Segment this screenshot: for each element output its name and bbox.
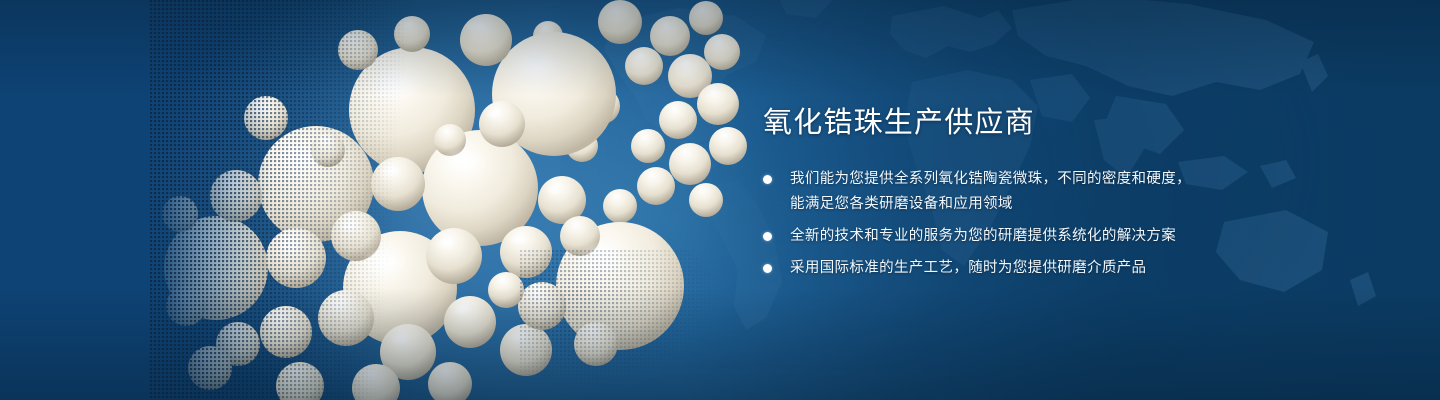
banner-copy: 氧化锆珠生产供应商 我们能为您提供全系列氧化锆陶瓷微珠，不同的密度和硬度， 能满… — [763, 104, 1383, 280]
bullet-dot-icon — [763, 264, 772, 273]
bullet-dot-icon — [763, 175, 772, 184]
bullet-item-3: 采用国际标准的生产工艺，随时为您提供研磨介质产品 — [763, 257, 1383, 280]
bullet-item-1: 我们能为您提供全系列氧化锆陶瓷微珠，不同的密度和硬度， 能满足您各类研磨设备和应… — [763, 168, 1383, 216]
banner-bullet-list: 我们能为您提供全系列氧化锆陶瓷微珠，不同的密度和硬度， 能满足您各类研磨设备和应… — [763, 168, 1383, 280]
bullet-dot-icon — [763, 232, 772, 241]
hero-banner: 氧化锆珠生产供应商 我们能为您提供全系列氧化锆陶瓷微珠，不同的密度和硬度， 能满… — [0, 0, 1440, 400]
bullet-item-3-line-1: 采用国际标准的生产工艺，随时为您提供研磨介质产品 — [790, 257, 1383, 280]
bullet-item-1-line-2: 能满足您各类研磨设备和应用领域 — [790, 193, 1383, 216]
bullet-item-1-line-1: 我们能为您提供全系列氧化锆陶瓷微珠，不同的密度和硬度， — [790, 168, 1383, 191]
banner-headline: 氧化锆珠生产供应商 — [763, 104, 1383, 142]
bullet-item-2-line-1: 全新的技术和专业的服务为您的研磨提供系统化的解决方案 — [790, 225, 1383, 248]
bullet-item-2: 全新的技术和专业的服务为您的研磨提供系统化的解决方案 — [763, 225, 1383, 248]
